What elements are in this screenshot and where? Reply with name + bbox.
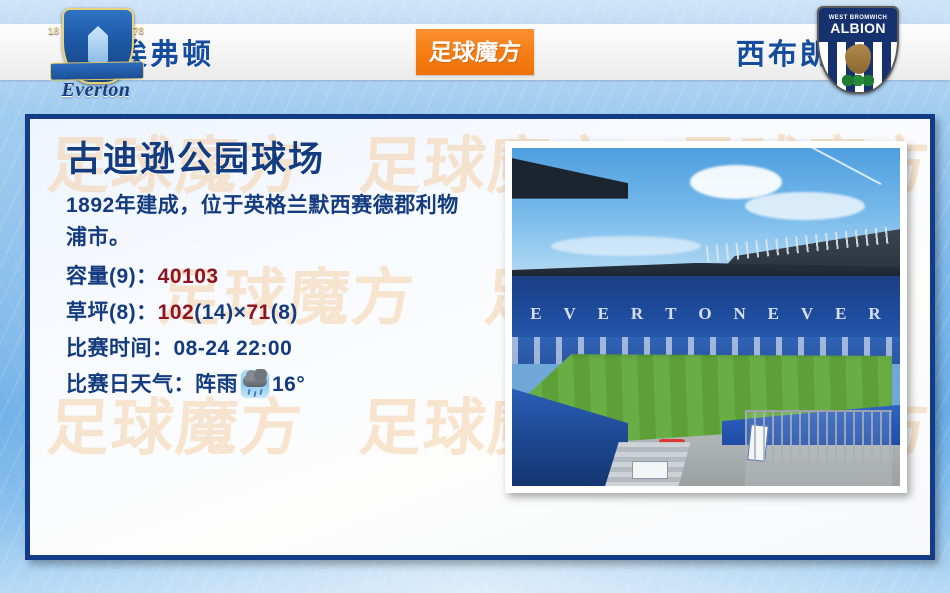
stand-letter: E	[768, 304, 780, 324]
stand-letter: R	[631, 304, 644, 324]
raindrop-shape	[253, 391, 256, 397]
away-team-crest-wba[interactable]: WEST BROMWICH ALBION	[808, 6, 904, 98]
weather-row: 比赛日天气：阵雨16°	[66, 367, 486, 403]
capacity-value: 40103	[158, 265, 219, 288]
stadium-photo: E V E R T O N E V E R	[512, 148, 900, 486]
site-logo[interactable]: 足球魔方	[416, 29, 534, 75]
photo-railing	[745, 410, 892, 486]
raindrop-shape	[247, 389, 250, 395]
pitch-label: 草坪(8)：	[66, 301, 158, 324]
pitch-width-rating: (8)	[271, 301, 298, 324]
pitch-width: 71	[246, 301, 270, 324]
stadium-name-title: 古迪逊公园球场	[66, 141, 486, 180]
photo-stand-lettering: E V E R T O N E V E R	[520, 300, 892, 327]
site-logo-text: 足球魔方	[428, 41, 521, 64]
stand-letter: N	[733, 304, 746, 324]
photo-notice-plate	[632, 461, 668, 479]
pitch-separator: ×	[234, 301, 247, 324]
everton-shield-icon: 18 78 Everton	[44, 6, 148, 102]
stand-letter: V	[563, 304, 576, 324]
everton-tower-icon	[88, 26, 108, 62]
stand-letter: R	[868, 304, 881, 324]
wba-throstle-bird-icon	[845, 44, 871, 74]
capacity-row: 容量(9)：40103	[66, 259, 486, 295]
photo-cloud	[551, 236, 701, 256]
match-time-label: 比赛时间：	[66, 337, 174, 360]
pitch-row: 草坪(8)：102(14)×71(8)	[66, 295, 486, 331]
weather-label: 比赛日天气：	[66, 373, 195, 396]
screenshot-root: 埃弗顿 足球魔方 西布朗 18 78 Everton WEST BROMWICH…	[0, 0, 950, 593]
weather-temperature: 16°	[272, 373, 305, 396]
photo-cloud	[745, 192, 865, 220]
stadium-details: 古迪逊公园球场 1892年建成，位于英格兰默西赛德郡利物浦市。 容量(9)：40…	[66, 141, 486, 403]
everton-year-right: 78	[133, 26, 144, 37]
pitch-length-rating: (14)	[194, 301, 233, 324]
wba-nameplate: WEST BROMWICH ALBION	[819, 8, 897, 42]
everton-wordmark: Everton	[44, 79, 148, 102]
panel-content: 古迪逊公园球场 1892年建成，位于英格兰默西赛德郡利物浦市。 容量(9)：40…	[30, 119, 930, 555]
wba-holly-icon	[841, 75, 875, 86]
match-time-row: 比赛时间：08-24 22:00	[66, 331, 486, 367]
stand-letter: E	[835, 304, 847, 324]
cloud-shape	[243, 375, 267, 387]
stand-letter: O	[698, 304, 712, 324]
wba-shield-icon: WEST BROMWICH ALBION	[817, 6, 899, 94]
raindrop-shape	[259, 389, 262, 395]
rain-cloud-icon	[240, 369, 270, 399]
everton-year-left: 18	[48, 26, 59, 37]
stadium-description: 1892年建成，位于英格兰默西赛德郡利物浦市。	[66, 190, 466, 255]
match-time-value: 08-24 22:00	[174, 337, 293, 360]
stand-letter: E	[530, 304, 542, 324]
stand-letter: E	[598, 304, 610, 324]
capacity-label: 容量(9)：	[66, 265, 158, 288]
pitch-length: 102	[158, 301, 195, 324]
stadium-info-panel: 足球魔方 足球魔方 足球魔方 足球魔方 足球魔方 足球魔方 足球魔方 足球魔方 …	[25, 114, 935, 560]
everton-ribbon-icon	[50, 61, 144, 81]
home-team-crest-everton[interactable]: 18 78 Everton	[44, 6, 148, 102]
stand-letter: T	[665, 304, 677, 324]
stadium-photo-frame[interactable]: E V E R T O N E V E R	[505, 141, 907, 493]
stand-letter: V	[801, 304, 814, 324]
wba-line2: ALBION	[830, 21, 885, 35]
weather-condition: 阵雨	[195, 373, 238, 396]
